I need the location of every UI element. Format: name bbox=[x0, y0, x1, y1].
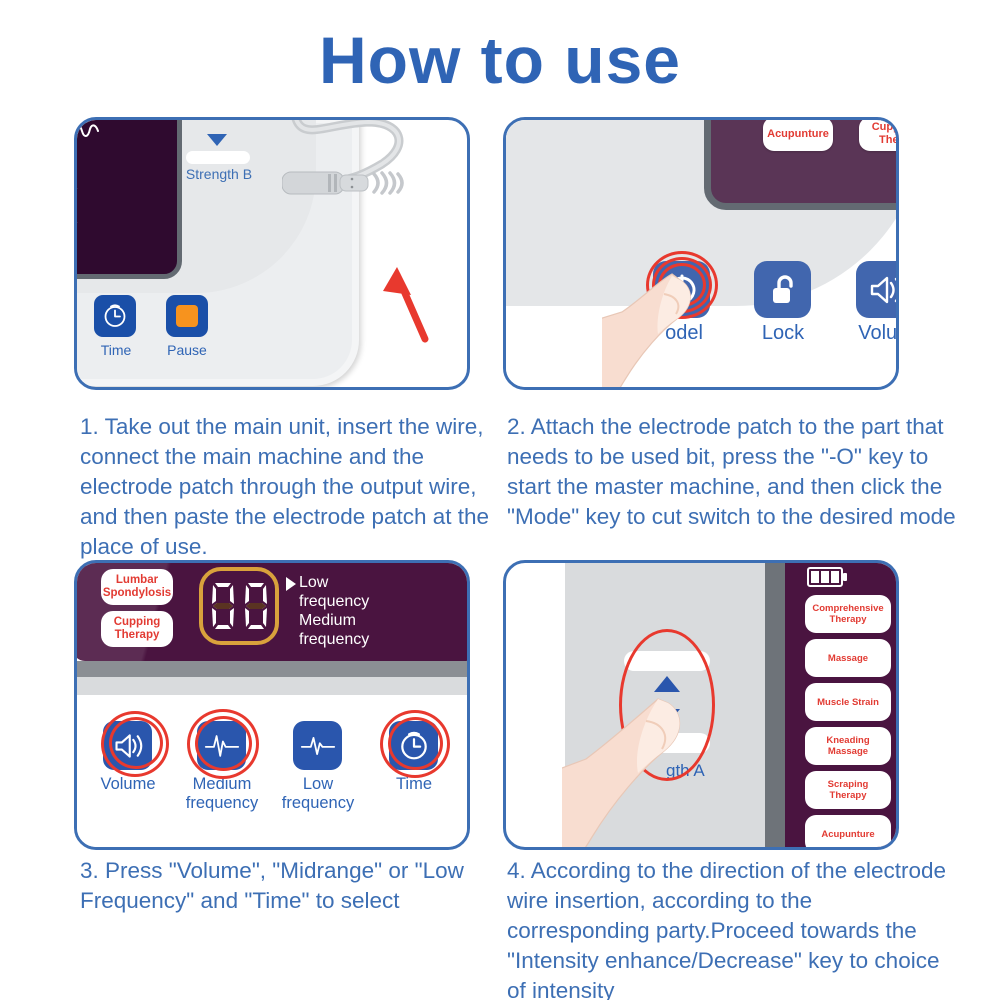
annotation-circle-volume-inner bbox=[109, 717, 163, 769]
step-1-image-panel: ncy m ncy Strength B Time Pause bbox=[74, 117, 470, 390]
control-button-row: odel Lock Volum bbox=[506, 120, 899, 390]
step-3-caption: 3. Press "Volume", "Midrange" or "Low Fr… bbox=[80, 856, 500, 916]
clock-icon bbox=[102, 303, 128, 329]
mode-key-massage[interactable]: Massage bbox=[805, 639, 891, 677]
device-purple-display: ncy m ncy bbox=[74, 117, 182, 279]
wave-icon bbox=[74, 122, 105, 140]
device-screen-area: ncy m ncy bbox=[74, 117, 316, 293]
low-frequency-button-label: Low frequency bbox=[263, 775, 373, 813]
device-display-panel: Lumbar Spondylosis Cupping Therapy bbox=[74, 560, 470, 661]
electrode-cable bbox=[282, 117, 470, 266]
low-frequency-button[interactable] bbox=[293, 721, 342, 770]
digit-tens bbox=[209, 581, 237, 631]
finger-pointer bbox=[562, 697, 712, 850]
pulse-icon bbox=[300, 731, 336, 761]
page-title: How to use bbox=[0, 22, 1000, 98]
mode-key-muscle-strain[interactable]: Muscle Strain bbox=[805, 683, 891, 721]
lock-button[interactable] bbox=[754, 261, 811, 318]
padlock-open-icon bbox=[766, 273, 800, 307]
finger-pointer bbox=[602, 260, 722, 390]
step-3-image-panel: Lumbar Spondylosis Cupping Therapy bbox=[74, 560, 470, 850]
step-4-image-panel: Comprehensive Therapy Massage Muscle Str… bbox=[503, 560, 899, 850]
annotation-circle-time-inner bbox=[388, 717, 443, 770]
mode-key-comprehensive-therapy[interactable]: Comprehensive Therapy bbox=[805, 595, 891, 633]
digit-ones bbox=[242, 581, 270, 631]
device-gray-band bbox=[74, 661, 470, 677]
device-mode-panel: Comprehensive Therapy Massage Muscle Str… bbox=[785, 560, 899, 850]
pause-button[interactable] bbox=[166, 295, 208, 337]
seven-segment-display bbox=[199, 567, 279, 645]
display-frequency-text: ncy m ncy bbox=[74, 182, 77, 233]
medium-frequency-button-label: Medium frequency bbox=[167, 775, 277, 813]
pause-square-icon bbox=[176, 305, 198, 327]
step-1-caption: 1. Take out the main unit, insert the wi… bbox=[80, 412, 500, 562]
speaker-icon bbox=[867, 273, 900, 307]
how-to-use-infographic: How to use ncy m ncy Strength B bbox=[0, 0, 1000, 1000]
annotation-circle-medium-inner bbox=[195, 716, 252, 771]
volume-button[interactable] bbox=[856, 261, 899, 318]
strength-b-bar[interactable] bbox=[186, 151, 250, 164]
frequency-selected-marker-icon bbox=[286, 577, 296, 591]
time-button[interactable] bbox=[94, 295, 136, 337]
battery-icon bbox=[807, 567, 849, 587]
triangle-down-icon bbox=[207, 134, 227, 146]
preset-key-cupping-therapy[interactable]: Cupping Therapy bbox=[101, 611, 173, 647]
step-2-image-panel: Acupunture Cupping Thera odel Lock bbox=[503, 117, 899, 390]
lock-button-label: Lock bbox=[723, 322, 843, 345]
step-2-caption: 2. Attach the electrode patch to the par… bbox=[507, 412, 959, 532]
red-arrow-icon bbox=[377, 255, 447, 345]
mode-key-acupunture[interactable]: Acupunture bbox=[805, 815, 891, 850]
device-divider bbox=[765, 560, 785, 850]
pause-button-label: Pause bbox=[142, 342, 232, 358]
mode-key-kneading-massage[interactable]: Kneading Massage bbox=[805, 727, 891, 765]
step-4-caption: 4. According to the direction of the ele… bbox=[507, 856, 959, 1000]
volume-button-label: Volum bbox=[826, 322, 899, 345]
strength-b-label: Strength B bbox=[174, 166, 264, 182]
device-light-band bbox=[74, 675, 470, 695]
preset-key-lumbar-spondylosis[interactable]: Lumbar Spondylosis bbox=[101, 569, 173, 605]
mode-key-scraping-therapy[interactable]: Scraping Therapy bbox=[805, 771, 891, 809]
frequency-options-label: Low frequency Medium frequency bbox=[299, 573, 369, 649]
